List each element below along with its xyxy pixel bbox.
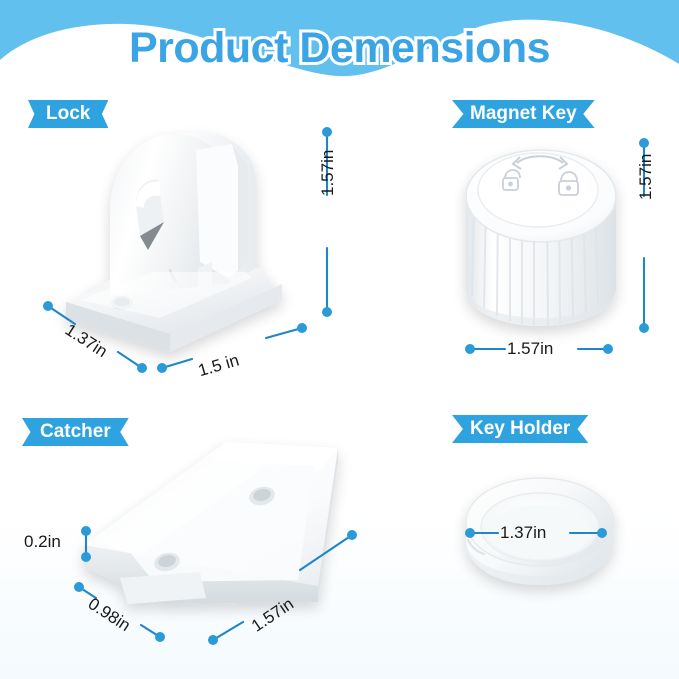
page-title: Product Demensions (0, 24, 679, 73)
dimension-label-lock-height: 1.57in (318, 150, 338, 196)
section-label-lock: Lock (28, 100, 108, 128)
dimension-label-keyholder-diameter: 1.37in (500, 523, 546, 543)
dimension-label-catcher-thickness: 0.2in (24, 532, 61, 552)
product-dimensions-infographic: Product Demensions Lock Magnet Key Catch… (0, 0, 679, 679)
dimension-label-magnetkey-diameter: 1.57in (507, 339, 553, 359)
section-label-key-holder: Key Holder (452, 415, 588, 443)
catcher-plate-icon (84, 434, 338, 604)
dimension-label-magnetkey-height: 1.57in (636, 154, 656, 200)
magnet-key-icon (466, 150, 616, 326)
section-label-magnet-key: Magnet Key (452, 100, 595, 128)
section-label-catcher: Catcher (22, 418, 129, 446)
cabinet-lock-icon (66, 132, 282, 352)
